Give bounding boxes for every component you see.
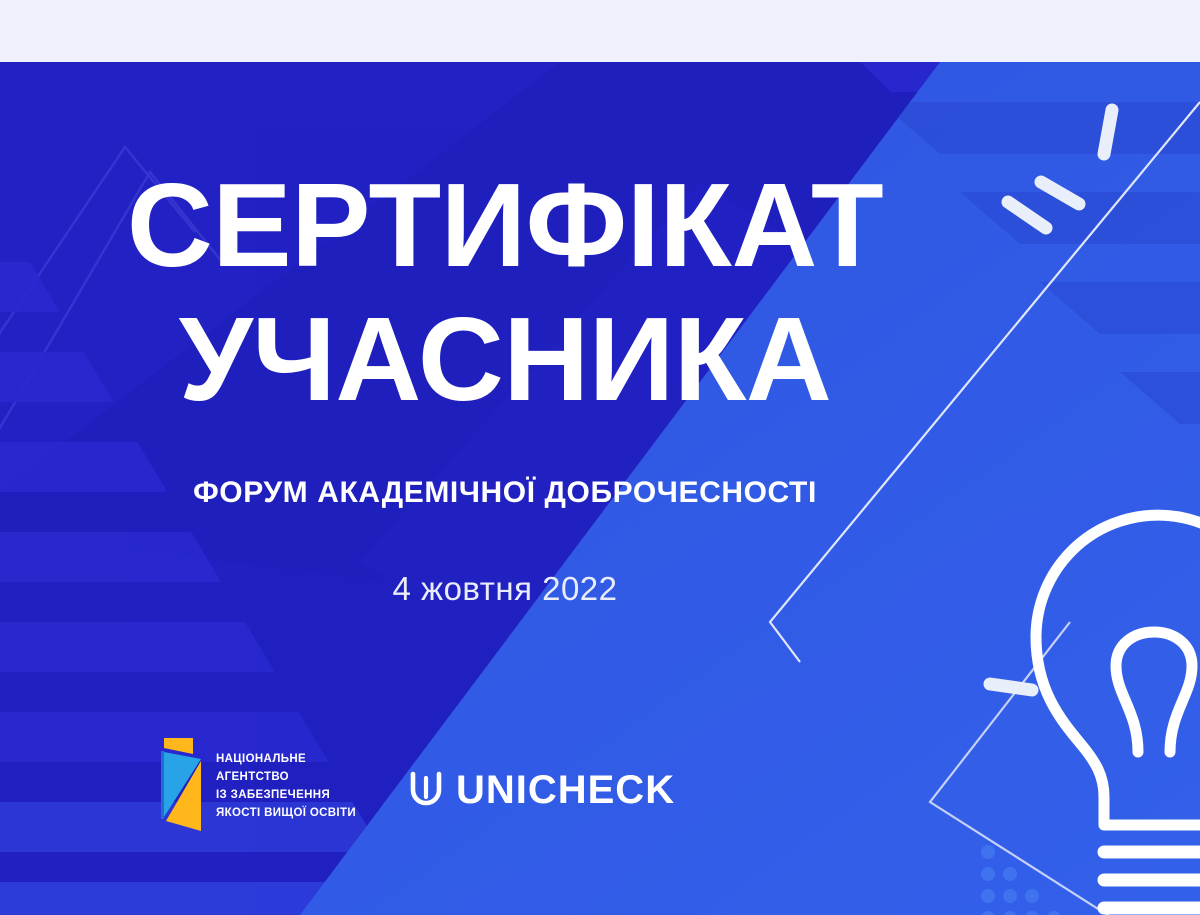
naqa-line-4: ЯКОСТІ ВИЩОЇ ОСВІТИ (216, 805, 356, 823)
top-margin-strip (0, 0, 1200, 62)
naqa-logo: НАЦІОНАЛЬНЕ АГЕНТСТВО ІЗ ЗАБЕЗПЕЧЕННЯ ЯК… (148, 735, 356, 839)
logo-row: НАЦІОНАЛЬНЕ АГЕНТСТВО ІЗ ЗАБЕЗПЕЧЕННЯ ЯК… (148, 732, 675, 842)
unicheck-u-icon (408, 770, 444, 810)
naqa-line-2: АГЕНТСТВО (216, 769, 356, 787)
certificate-canvas: СЕРТИФІКАТ УЧАСНИКА ФОРУМ АКАДЕМІЧНОЇ ДО… (0, 62, 1200, 915)
naqa-wordmark: НАЦІОНАЛЬНЕ АГЕНТСТВО ІЗ ЗАБЕЗПЕЧЕННЯ ЯК… (216, 751, 356, 822)
certificate-page: СЕРТИФІКАТ УЧАСНИКА ФОРУМ АКАДЕМІЧНОЇ ДО… (0, 0, 1200, 915)
unicheck-wordmark-text: UNICHECK (456, 770, 675, 810)
unicheck-logo: UNICHECK (408, 770, 675, 810)
naqa-line-1: НАЦІОНАЛЬНЕ (216, 751, 356, 769)
naqa-emblem-icon (148, 735, 206, 839)
naqa-line-3: ІЗ ЗАБЕЗПЕЧЕННЯ (216, 787, 356, 805)
